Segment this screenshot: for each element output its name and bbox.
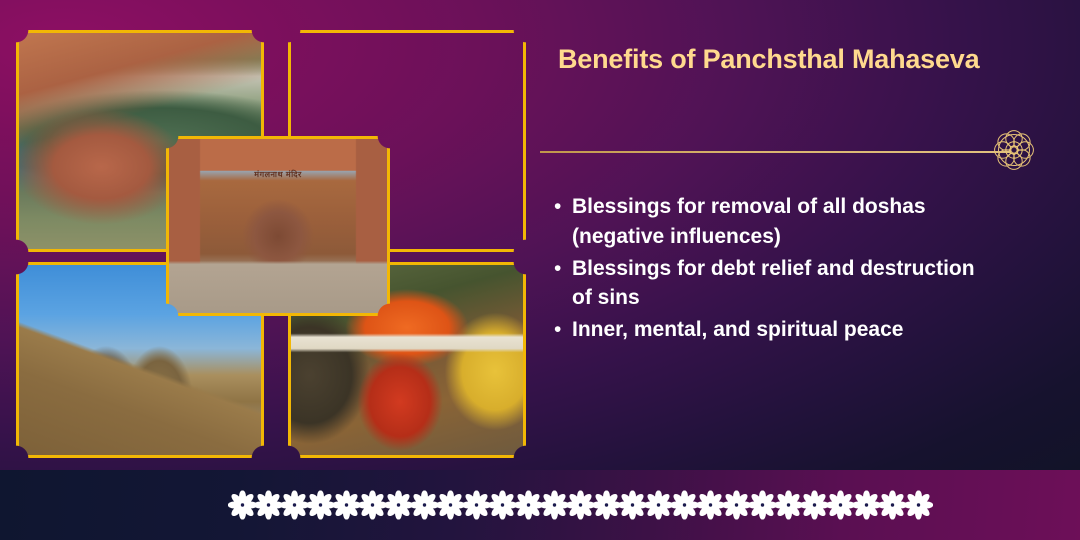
eight-petal-flower-icon	[748, 491, 777, 520]
eight-petal-flower-icon	[306, 491, 335, 520]
eight-petal-flower-icon	[670, 491, 699, 520]
gold-divider-line	[540, 151, 1010, 153]
eight-petal-flower-icon	[644, 491, 673, 520]
flower-border-row	[228, 491, 930, 520]
eight-petal-flower-icon	[722, 491, 751, 520]
bottom-decorative-band	[0, 470, 1080, 540]
eight-petal-flower-icon	[826, 491, 855, 520]
bullet-item: • Blessings for debt relief and destruct…	[548, 254, 988, 314]
eight-petal-flower-icon	[878, 491, 907, 520]
eight-petal-flower-icon	[488, 491, 517, 520]
gold-mandala-rosette-icon	[988, 124, 1040, 176]
eight-petal-flower-icon	[566, 491, 595, 520]
page-title: Benefits of Panchsthal Mahaseva	[558, 42, 1028, 78]
bullet-item: • Blessings for removal of all doshas (n…	[548, 192, 988, 252]
bullet-marker-icon: •	[548, 315, 572, 345]
eight-petal-flower-icon	[384, 491, 413, 520]
bullet-text: Inner, mental, and spiritual peace	[572, 315, 903, 345]
eight-petal-flower-icon	[254, 491, 283, 520]
eight-petal-flower-icon	[696, 491, 725, 520]
eight-petal-flower-icon	[540, 491, 569, 520]
eight-petal-flower-icon	[774, 491, 803, 520]
eight-petal-flower-icon	[358, 491, 387, 520]
eight-petal-flower-icon	[852, 491, 881, 520]
bullet-text: Blessings for debt relief and destructio…	[572, 254, 988, 314]
eight-petal-flower-icon	[280, 491, 309, 520]
eight-petal-flower-icon	[436, 491, 465, 520]
image-collage: मंगलनाथ मंदिर	[0, 0, 540, 470]
bullet-marker-icon: •	[548, 192, 572, 222]
slide-root: मंगलनाथ मंदिर Benefits of Panchsthal Mah…	[0, 0, 1080, 540]
eight-petal-flower-icon	[618, 491, 647, 520]
bullet-text: Blessings for removal of all doshas (neg…	[572, 192, 988, 252]
benefits-bullet-list: • Blessings for removal of all doshas (n…	[548, 192, 988, 347]
eight-petal-flower-icon	[800, 491, 829, 520]
eight-petal-flower-icon	[592, 491, 621, 520]
eight-petal-flower-icon	[410, 491, 439, 520]
bullet-marker-icon: •	[548, 254, 572, 284]
eight-petal-flower-icon	[462, 491, 491, 520]
eight-petal-flower-icon	[514, 491, 543, 520]
gateway-sign-text: मंगलनाथ मंदिर	[169, 169, 387, 180]
bullet-item: • Inner, mental, and spiritual peace	[548, 315, 988, 345]
collage-image-mangalnath-temple-gateway: मंगलनाथ मंदिर	[166, 136, 390, 316]
eight-petal-flower-icon	[904, 491, 933, 520]
eight-petal-flower-icon	[228, 491, 257, 520]
eight-petal-flower-icon	[332, 491, 361, 520]
